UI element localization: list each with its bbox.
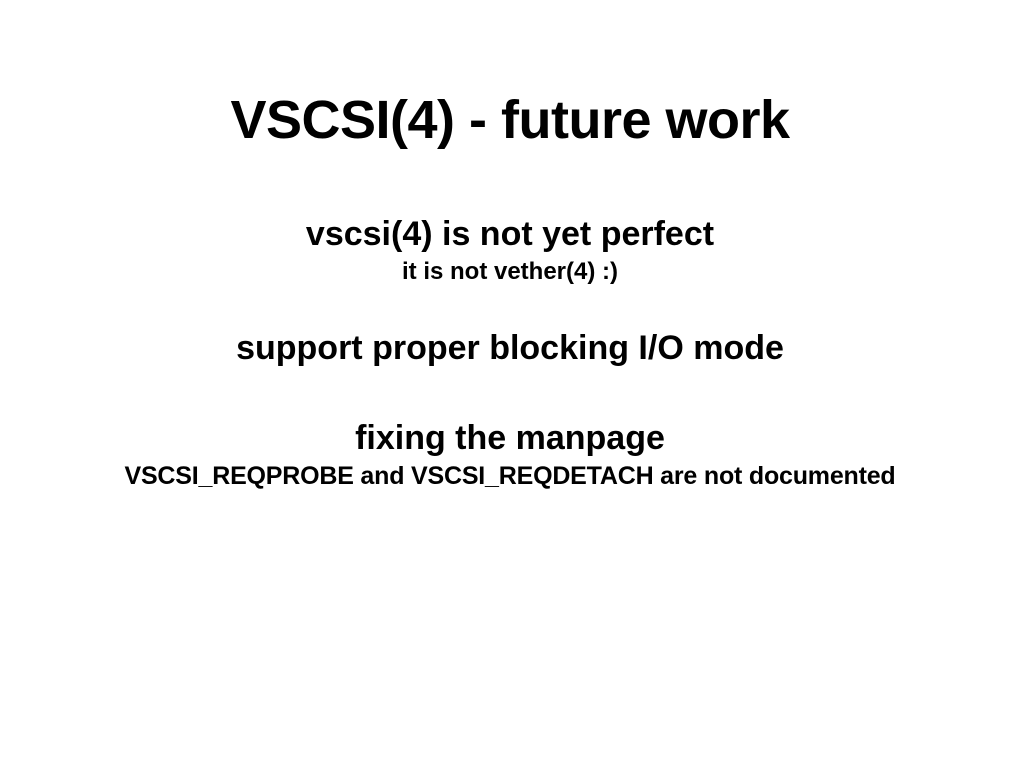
block-heading-not-yet-perfect: vscsi(4) is not yet perfect [0,214,1020,254]
block-note-vether: it is not vether(4) :) [0,257,1020,286]
slide-title: VSCSI(4) - future work [0,92,1020,149]
block-heading-fixing-manpage: fixing the manpage [0,418,1020,458]
content-block-blocking-io: support proper blocking I/O mode [0,328,1020,368]
content-block-perfect: vscsi(4) is not yet perfect it is not ve… [0,214,1020,286]
content-block-manpage: fixing the manpage VSCSI_REQPROBE and VS… [0,418,1020,492]
block-note-undocumented-ioctls: VSCSI_REQPROBE and VSCSI_REQDETACH are n… [0,461,1020,492]
block-heading-blocking-io-mode: support proper blocking I/O mode [0,328,1020,368]
presentation-slide: VSCSI(4) - future work vscsi(4) is not y… [0,0,1024,768]
